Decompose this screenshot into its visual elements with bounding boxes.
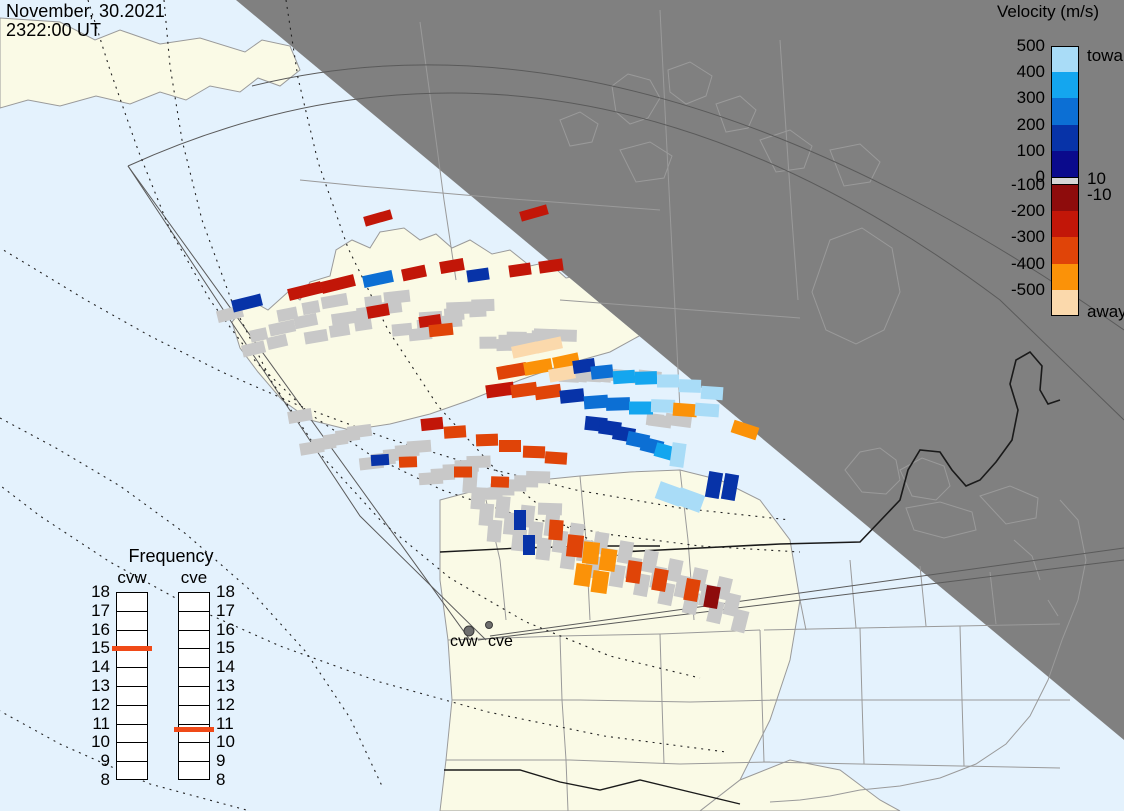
frequency-tick-label: 16 bbox=[216, 620, 242, 640]
frequency-tick-label: 9 bbox=[84, 751, 110, 771]
colorbar-band bbox=[1051, 237, 1079, 263]
colorbar-band bbox=[1051, 211, 1079, 237]
frequency-tick-label: 11 bbox=[216, 714, 242, 734]
groundscatter-cell bbox=[507, 332, 527, 344]
frequency-gridline bbox=[178, 761, 210, 762]
velocity-cell bbox=[695, 403, 720, 418]
frequency-tick-label: 18 bbox=[216, 582, 242, 602]
velocity-cell bbox=[444, 425, 467, 439]
frequency-gridline bbox=[116, 667, 148, 668]
velocity-cell bbox=[371, 454, 390, 466]
frequency-tick-label: 8 bbox=[84, 770, 110, 790]
radar-map-visualization: November, 30.2021 2322:00 UT Velocity (m… bbox=[0, 0, 1124, 811]
frequency-gridline bbox=[116, 686, 148, 687]
colorbar-band bbox=[1051, 264, 1079, 290]
frequency-column-header-cvw: cvw bbox=[111, 568, 153, 588]
colorbar-tick-label: -100 bbox=[993, 175, 1045, 195]
velocity-cell bbox=[428, 323, 453, 337]
frequency-gridline bbox=[116, 742, 148, 743]
velocity-cell bbox=[559, 388, 584, 403]
velocity-cell bbox=[582, 541, 600, 565]
velocity-cell bbox=[514, 510, 526, 530]
colorbar-band bbox=[1051, 72, 1079, 98]
colorbar-tick-label: -500 bbox=[993, 280, 1045, 300]
velocity-cell bbox=[679, 379, 701, 393]
velocity-cell bbox=[651, 399, 675, 413]
velocity-cell bbox=[635, 371, 657, 385]
frequency-tick-label: 9 bbox=[216, 751, 242, 771]
velocity-cell bbox=[590, 364, 613, 379]
colorbar-neutral-band bbox=[1051, 177, 1079, 185]
frequency-gridline bbox=[178, 742, 210, 743]
groundscatter-cell bbox=[407, 440, 432, 454]
velocity-cell bbox=[548, 520, 563, 541]
site-label-cve: cve bbox=[488, 633, 513, 651]
velocity-cell bbox=[454, 467, 472, 478]
velocity-cell bbox=[613, 370, 636, 385]
velocity-cell bbox=[606, 397, 630, 411]
velocity-cell bbox=[599, 548, 618, 572]
colorbar-band bbox=[1051, 290, 1079, 316]
timestamp-date: November, 30.2021 bbox=[6, 1, 165, 21]
site-label-cvw: cvw bbox=[450, 633, 478, 651]
frequency-tick-label: 13 bbox=[216, 676, 242, 696]
frequency-tick-label: 17 bbox=[216, 601, 242, 621]
frequency-gridline bbox=[116, 630, 148, 631]
frequency-tick-label: 17 bbox=[84, 601, 110, 621]
frequency-tick-label: 16 bbox=[84, 620, 110, 640]
frequency-tick-label: 10 bbox=[84, 732, 110, 752]
velocity-cell bbox=[499, 440, 521, 452]
groundscatter-cell bbox=[466, 456, 490, 469]
frequency-tick-label: 11 bbox=[84, 714, 110, 734]
frequency-gridline bbox=[178, 705, 210, 706]
colorbar-toward-label: toward bbox=[1087, 46, 1124, 66]
colorbar-tick-label: -200 bbox=[993, 201, 1045, 221]
velocity-cell bbox=[523, 535, 535, 555]
velocity-cell bbox=[523, 446, 545, 459]
velocity-cell bbox=[574, 563, 593, 587]
frequency-tick-label: 14 bbox=[216, 657, 242, 677]
frequency-legend: Frequency cvw18171615141312111098cve1817… bbox=[86, 546, 256, 796]
velocity-cell bbox=[420, 417, 443, 431]
velocity-cell bbox=[673, 403, 698, 418]
colorbar-tick-label: -300 bbox=[993, 227, 1045, 247]
colorbar-away-label: away bbox=[1087, 302, 1124, 322]
site-marker-cve bbox=[486, 622, 493, 629]
groundscatter-cell bbox=[526, 471, 550, 484]
frequency-tick-label: 15 bbox=[216, 638, 242, 658]
colorbar-title: Velocity (m/s) bbox=[972, 2, 1124, 22]
colorbar-tick-label: 300 bbox=[993, 88, 1045, 108]
colorbar-mid-lower-label: -10 bbox=[1087, 185, 1112, 205]
frequency-gridline bbox=[178, 611, 210, 612]
colorbar-band bbox=[1051, 46, 1079, 72]
colorbar-tick-label: -400 bbox=[993, 254, 1045, 274]
frequency-tick-label: 12 bbox=[84, 695, 110, 715]
frequency-tick-label: 18 bbox=[84, 582, 110, 602]
frequency-marker-cvw bbox=[112, 646, 152, 651]
velocity-cell bbox=[701, 386, 724, 401]
frequency-gridline bbox=[178, 724, 210, 725]
frequency-gridline bbox=[178, 686, 210, 687]
timestamp: November, 30.2021 2322:00 UT bbox=[6, 2, 165, 40]
velocity-cell bbox=[491, 476, 509, 488]
velocity-cell bbox=[399, 456, 417, 468]
groundscatter-cell bbox=[535, 537, 551, 560]
groundscatter-cell bbox=[471, 299, 494, 312]
groundscatter-cell bbox=[538, 503, 562, 516]
colorbar-tick-label: 500 bbox=[993, 36, 1045, 56]
colorbar-band bbox=[1051, 125, 1079, 151]
frequency-column-header-cve: cve bbox=[173, 568, 215, 588]
velocity-cell bbox=[629, 402, 653, 415]
colorbar-band bbox=[1051, 98, 1079, 124]
groundscatter-cell bbox=[391, 323, 412, 337]
groundscatter-cell bbox=[446, 301, 472, 314]
frequency-tick-label: 10 bbox=[216, 732, 242, 752]
frequency-tick-label: 8 bbox=[216, 770, 242, 790]
frequency-gridline bbox=[116, 761, 148, 762]
frequency-tick-label: 15 bbox=[84, 638, 110, 658]
velocity-cell bbox=[476, 434, 498, 447]
colorbar-tick-label: 400 bbox=[993, 62, 1045, 82]
velocity-cell bbox=[657, 375, 679, 388]
frequency-gridline bbox=[116, 611, 148, 612]
frequency-tick-label: 12 bbox=[216, 695, 242, 715]
colorbar-band bbox=[1051, 151, 1079, 177]
colorbar-tick-label: 200 bbox=[993, 115, 1045, 135]
timestamp-time: 2322:00 UT bbox=[6, 20, 101, 40]
frequency-gridline bbox=[178, 667, 210, 668]
groundscatter-cell bbox=[479, 337, 496, 349]
frequency-gridline bbox=[178, 648, 210, 649]
frequency-gridline bbox=[178, 630, 210, 631]
frequency-tick-label: 13 bbox=[84, 676, 110, 696]
velocity-cell bbox=[584, 395, 609, 410]
frequency-tick-label: 14 bbox=[84, 657, 110, 677]
velocity-cell bbox=[566, 534, 584, 558]
colorbar-band bbox=[1051, 185, 1079, 211]
frequency-marker-cve bbox=[174, 727, 214, 732]
velocity-cell bbox=[591, 570, 610, 594]
frequency-gridline bbox=[116, 724, 148, 725]
groundscatter-cell bbox=[487, 519, 503, 542]
velocity-cell bbox=[545, 451, 568, 465]
frequency-title: Frequency bbox=[86, 546, 256, 567]
frequency-gridline bbox=[116, 705, 148, 706]
colorbar-tick-label: 100 bbox=[993, 141, 1045, 161]
